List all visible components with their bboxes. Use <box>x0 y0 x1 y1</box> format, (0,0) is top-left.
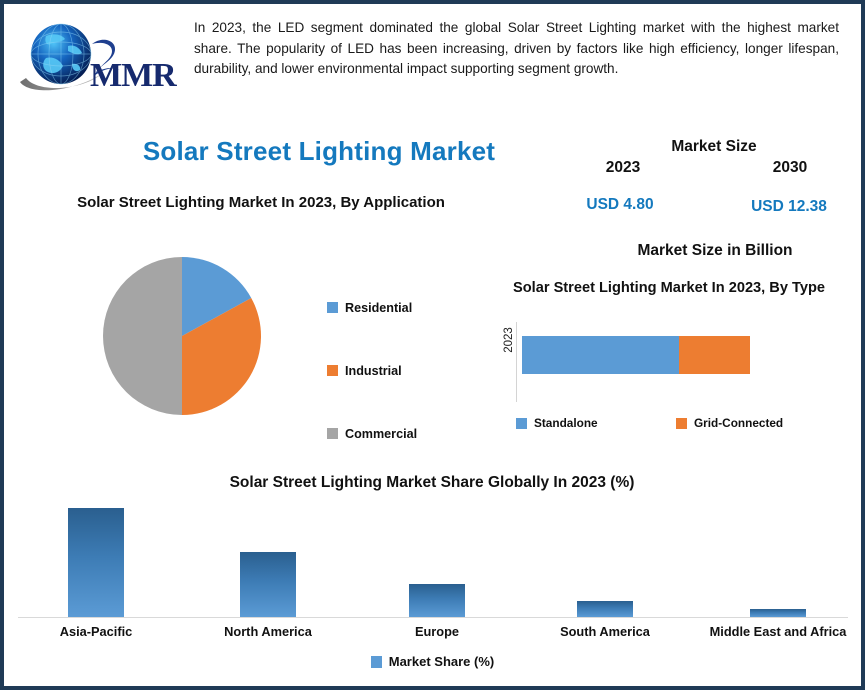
type-bar-segment-standalone <box>522 336 679 374</box>
legend-swatch-standalone <box>516 418 527 429</box>
bar-rect <box>68 508 124 617</box>
share-chart-category-labels: Asia-PacificNorth AmericaEuropeSouth Ame… <box>18 624 848 648</box>
pie-chart <box>102 256 262 416</box>
mmr-logo: MMR <box>4 4 194 104</box>
pie-chart-title: Solar Street Lighting Market In 2023, By… <box>66 192 456 214</box>
type-chart-y-label: 2023 <box>503 322 515 358</box>
legend-item-commercial: Commercial <box>327 402 497 465</box>
legend-item-standalone: Standalone <box>516 416 676 430</box>
share-bar-label: South America <box>520 624 690 639</box>
legend-item-residential: Residential <box>327 276 497 339</box>
share-chart-plot <box>18 496 848 618</box>
share-bar-label: Europe <box>352 624 522 639</box>
bar-rect <box>750 609 806 617</box>
pie-chart-legend: Residential Industrial Commercial <box>327 276 497 465</box>
legend-label-standalone: Standalone <box>534 416 598 430</box>
bar-rect <box>577 601 633 617</box>
legend-swatch-commercial <box>327 428 338 439</box>
share-bar-label: North America <box>183 624 353 639</box>
share-bar-south-america <box>577 601 633 617</box>
share-chart-legend: Market Share (%) <box>4 654 861 669</box>
share-chart-baseline <box>18 617 848 618</box>
share-bar-label: Asia-Pacific <box>11 624 181 639</box>
globe-icon: MMR <box>16 20 192 98</box>
legend-swatch-residential <box>327 302 338 313</box>
pie-chart-svg <box>102 256 262 416</box>
page-title: Solar Street Lighting Market <box>64 136 574 167</box>
market-size-unit-note: Market Size in Billion <box>599 242 831 260</box>
type-bar-segment-grid-connected <box>679 336 750 374</box>
header: MMR In 2023, the LED segment dominated t… <box>4 4 861 116</box>
type-chart-axis <box>516 322 517 402</box>
type-chart-title: Solar Street Lighting Market In 2023, By… <box>509 278 829 299</box>
share-bar-north-america <box>240 552 296 617</box>
share-bar-europe <box>409 584 465 617</box>
intro-paragraph: In 2023, the LED segment dominated the g… <box>194 4 861 80</box>
market-size-heading: Market Size <box>599 138 829 156</box>
share-chart-title: Solar Street Lighting Market Share Globa… <box>32 474 832 492</box>
legend-label-market-share: Market Share (%) <box>389 654 494 669</box>
legend-label-grid-connected: Grid-Connected <box>694 416 783 430</box>
legend-swatch-grid-connected <box>676 418 687 429</box>
bar-rect <box>240 552 296 617</box>
legend-swatch-industrial <box>327 365 338 376</box>
type-chart-bar <box>522 336 750 374</box>
legend-item-industrial: Industrial <box>327 339 497 402</box>
legend-item-grid-connected: Grid-Connected <box>676 416 783 430</box>
market-size-year-end: 2030 <box>749 159 831 177</box>
svg-text:MMR: MMR <box>90 57 177 94</box>
type-chart-plot <box>516 322 756 402</box>
type-chart-legend: Standalone Grid-Connected <box>516 416 816 430</box>
legend-swatch-market-share <box>371 656 382 668</box>
market-size-value-start: USD 4.80 <box>570 196 670 214</box>
legend-label-commercial: Commercial <box>345 427 417 441</box>
market-size-year-start: 2023 <box>582 159 664 177</box>
bar-rect <box>409 584 465 617</box>
share-bar-middle-east-and-africa <box>750 609 806 617</box>
share-bar-label: Middle East and Africa <box>693 624 863 639</box>
pie-slice-commercial <box>103 257 182 415</box>
legend-label-industrial: Industrial <box>345 364 402 378</box>
infographic-frame: MMR In 2023, the LED segment dominated t… <box>0 0 865 690</box>
share-bar-asia-pacific <box>68 508 124 617</box>
market-size-value-end: USD 12.38 <box>734 198 844 216</box>
legend-label-residential: Residential <box>345 301 412 315</box>
